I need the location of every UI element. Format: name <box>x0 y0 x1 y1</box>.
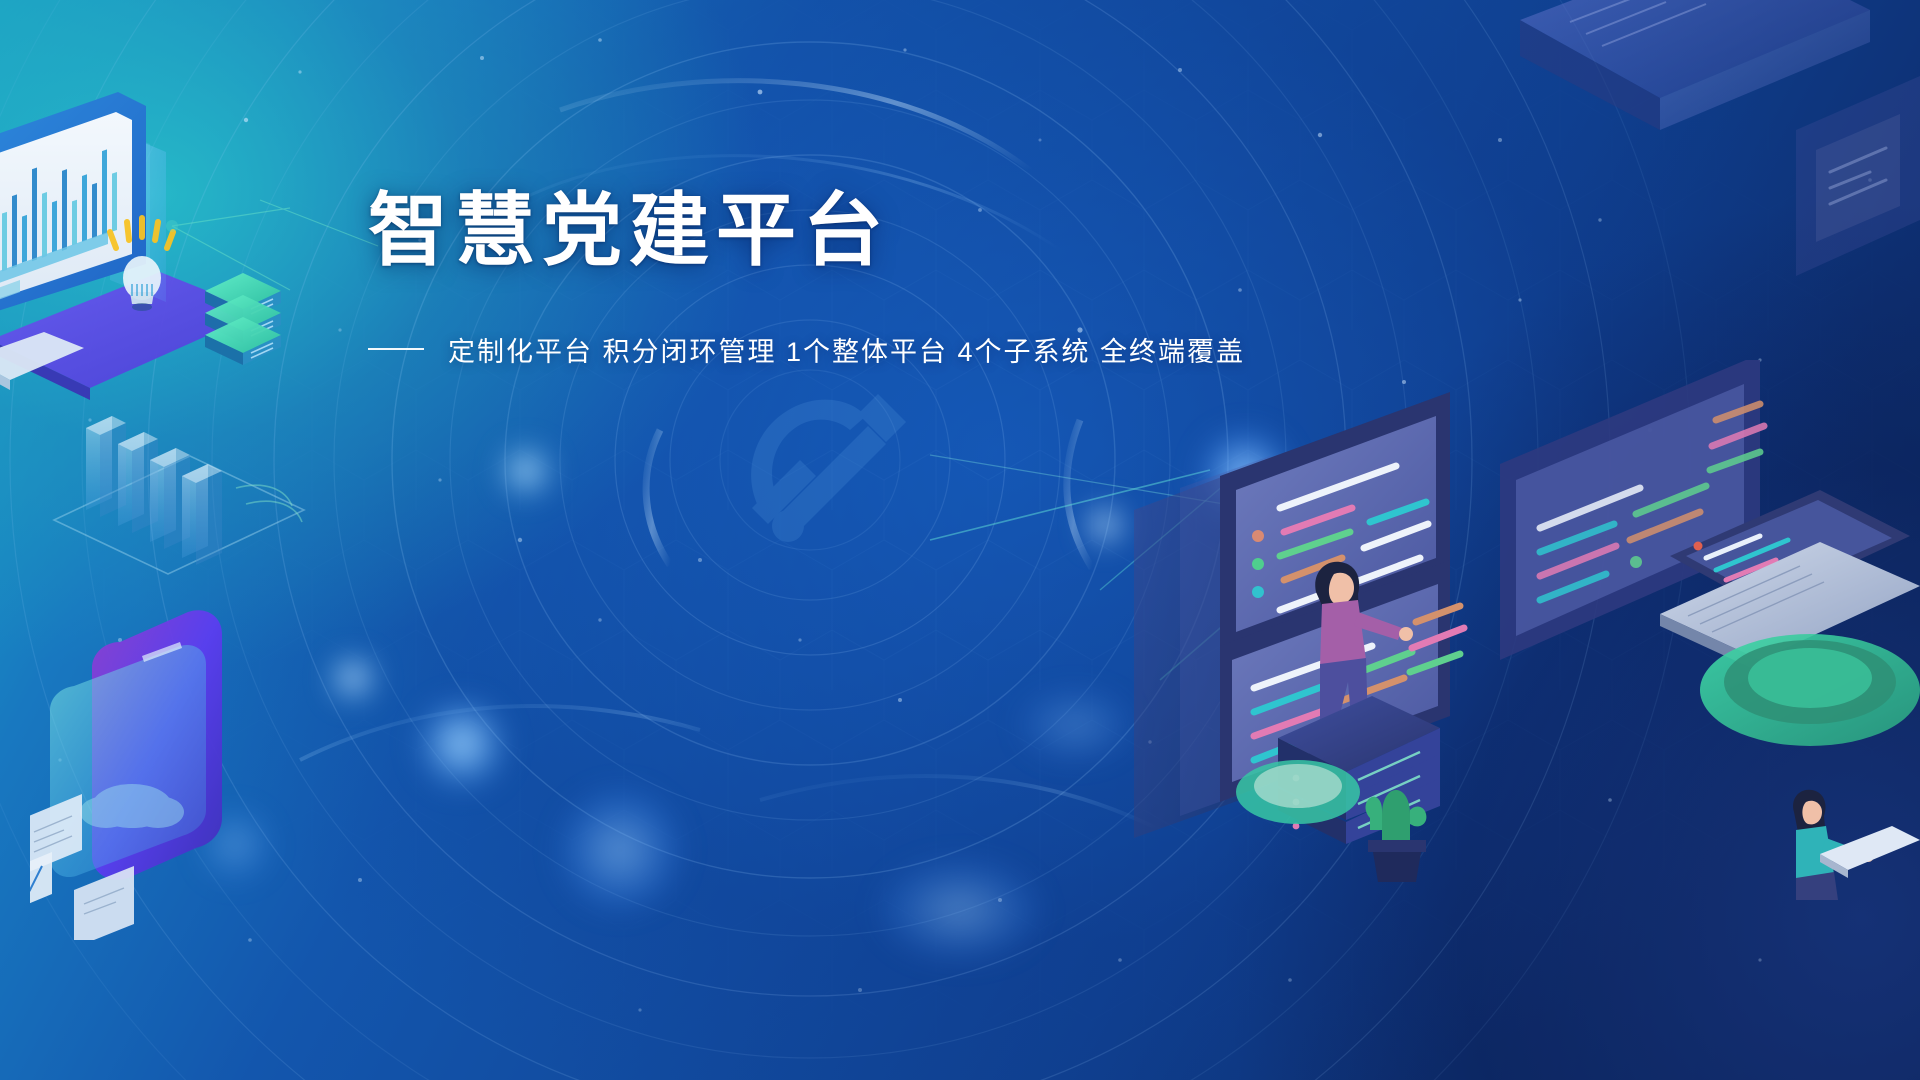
isometric-desktop-monitor <box>0 40 380 460</box>
hero-copy: 智慧党建平台 定制化平台 积分闭环管理 1个整体平台 4个子系统 全终端覆盖 <box>368 186 1368 369</box>
platform-disc <box>1700 634 1920 746</box>
server-rack-stack <box>195 255 325 365</box>
isometric-laptop <box>1500 360 1920 672</box>
data-pillars <box>40 370 320 590</box>
person-at-dashboard <box>1314 562 1413 738</box>
subtitle-dash-rule <box>368 348 424 350</box>
server-pedestal <box>1278 696 1440 844</box>
hexagon-mesh-decor <box>0 0 1920 1080</box>
radial-rings-decor <box>0 0 1920 1080</box>
light-arc-sweeps <box>0 0 1920 1080</box>
isometric-laptop-top-right <box>1400 0 1920 310</box>
potted-cactus <box>1366 790 1427 882</box>
page-title: 智慧党建平台 <box>368 186 1368 276</box>
person-with-laptop <box>1793 790 1920 900</box>
platform-disc-small <box>1236 760 1360 824</box>
isometric-smartphone <box>30 560 360 940</box>
particle-dots-decor <box>0 0 1920 1080</box>
banner-root: 智慧党建平台 定制化平台 积分闭环管理 1个整体平台 4个子系统 全终端覆盖 <box>0 0 1920 1080</box>
hero-subtitle: 定制化平台 积分闭环管理 1个整体平台 4个子系统 全终端覆盖 <box>448 330 1245 369</box>
hero-subtitle-row: 定制化平台 积分闭环管理 1个整体平台 4个子系统 全终端覆盖 <box>368 330 1368 369</box>
isometric-wall-screens <box>1120 360 1920 900</box>
bokeh-glow-decor <box>0 0 1920 1080</box>
